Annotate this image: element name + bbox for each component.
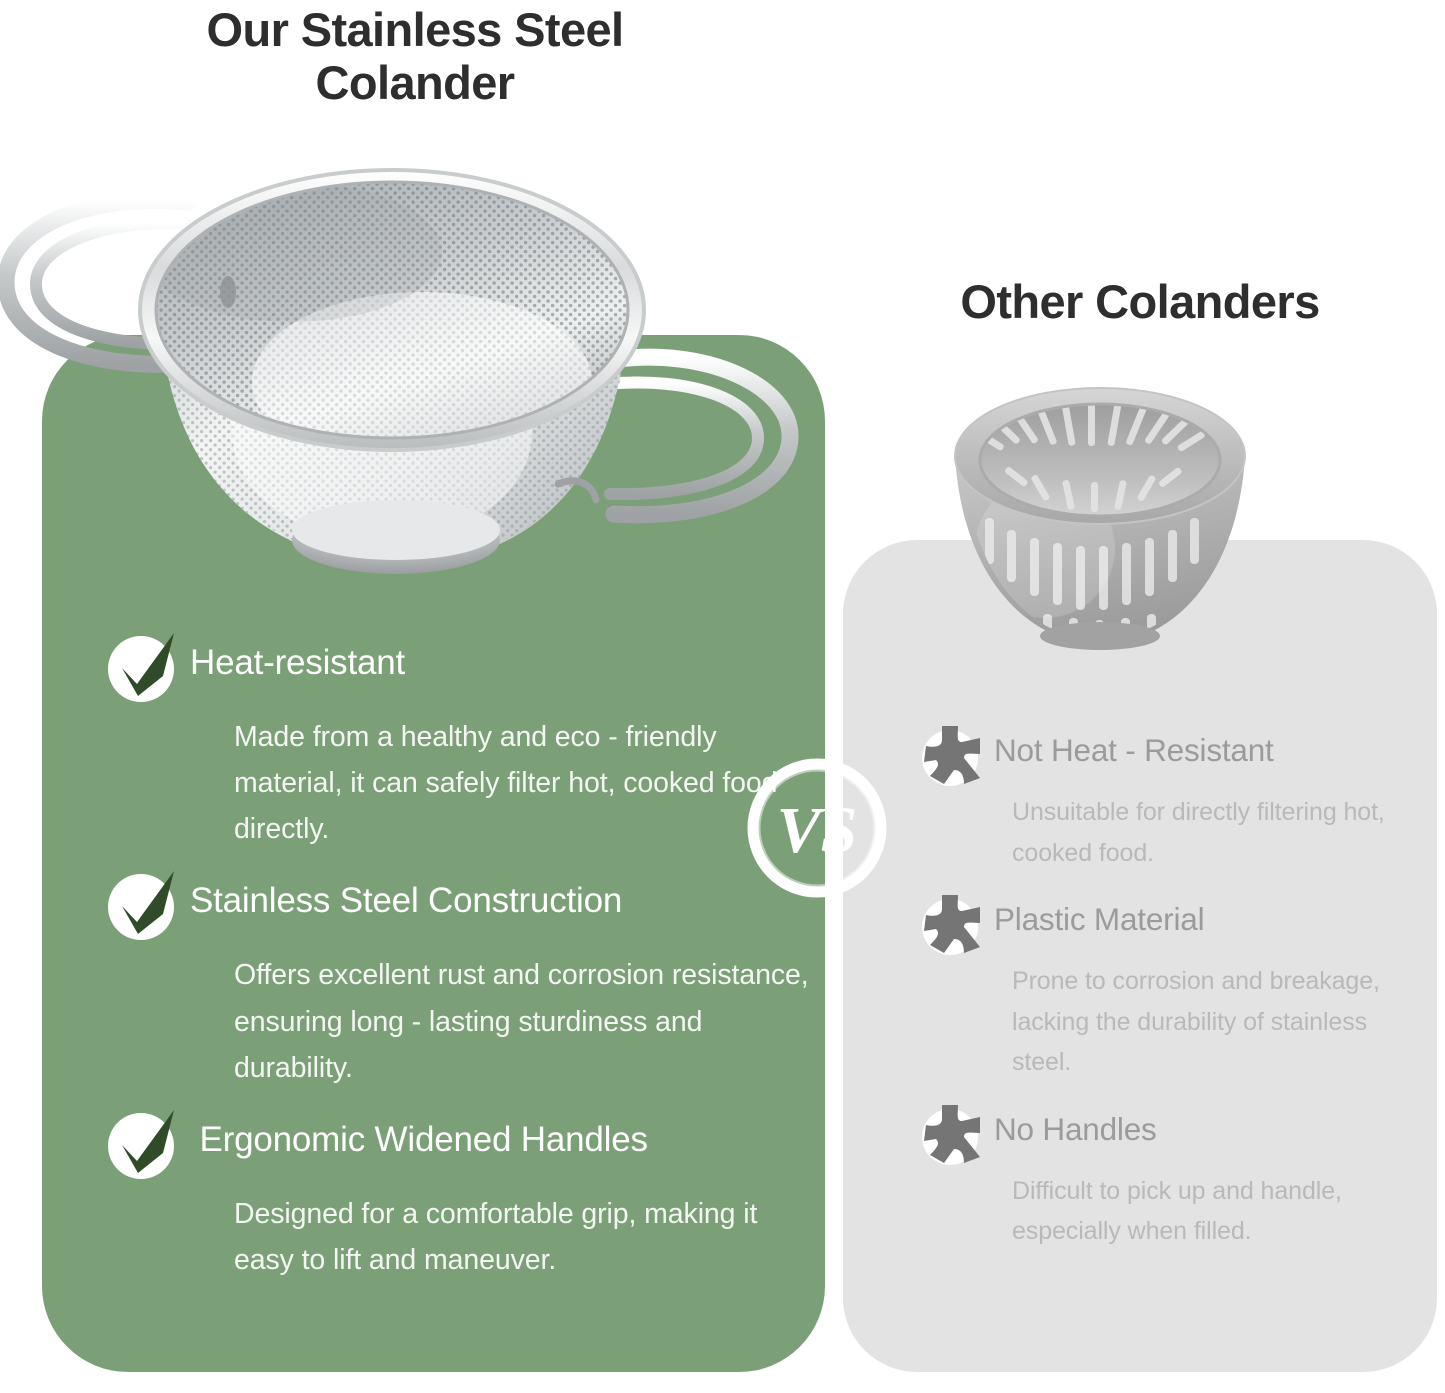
- other-product-feature-list: Not Heat - Resistant Unsuitable for dire…: [920, 726, 1420, 1274]
- feature-title: Heat-resistant: [190, 636, 405, 682]
- check-icon: [106, 630, 180, 704]
- feature-item: Ergonomic Widened Handles Designed for a…: [106, 1113, 812, 1283]
- drawback-description: Difficult to pick up and handle, especia…: [1012, 1171, 1420, 1252]
- drawback-item: Not Heat - Resistant Unsuitable for dire…: [920, 726, 1420, 873]
- plastic-colander-image: [925, 368, 1275, 663]
- vs-badge: VS: [741, 752, 893, 904]
- check-icon: [106, 868, 180, 942]
- drawback-item: Plastic Material Prone to corrosion and …: [920, 895, 1420, 1083]
- feature-item: Stainless Steel Construction Offers exce…: [106, 874, 812, 1090]
- feature-description: Offers excellent rust and corrosion resi…: [234, 952, 812, 1090]
- vs-label: VS: [777, 794, 858, 867]
- drawback-title: No Handles: [994, 1105, 1157, 1146]
- feature-title: Ergonomic Widened Handles: [190, 1113, 648, 1159]
- feature-description: Made from a healthy and eco - friendly m…: [234, 714, 812, 852]
- check-icon: [106, 1107, 180, 1181]
- left-panel-title: Our Stainless Steel Colander: [20, 4, 810, 109]
- stainless-steel-colander-image: [0, 132, 812, 582]
- our-product-feature-list: Heat-resistant Made from a healthy and e…: [106, 636, 812, 1305]
- drawback-description: Unsuitable for directly filtering hot, c…: [1012, 792, 1420, 873]
- cross-icon: [920, 722, 986, 788]
- cross-icon: [920, 1101, 986, 1167]
- feature-description: Designed for a comfortable grip, making …: [234, 1191, 812, 1283]
- colander-handle-right: [606, 357, 790, 515]
- drawback-description: Prone to corrosion and breakage, lacking…: [1012, 961, 1420, 1083]
- cross-icon: [920, 891, 986, 957]
- drawback-title: Plastic Material: [994, 895, 1204, 936]
- drawback-item: No Handles Difficult to pick up and hand…: [920, 1105, 1420, 1252]
- feature-item: Heat-resistant Made from a healthy and e…: [106, 636, 812, 852]
- drawback-title: Not Heat - Resistant: [994, 726, 1274, 767]
- comparison-infographic: Our Stainless Steel Colander Other Colan…: [0, 0, 1445, 1393]
- right-panel-title: Other Colanders: [880, 276, 1400, 328]
- feature-title: Stainless Steel Construction: [190, 874, 622, 920]
